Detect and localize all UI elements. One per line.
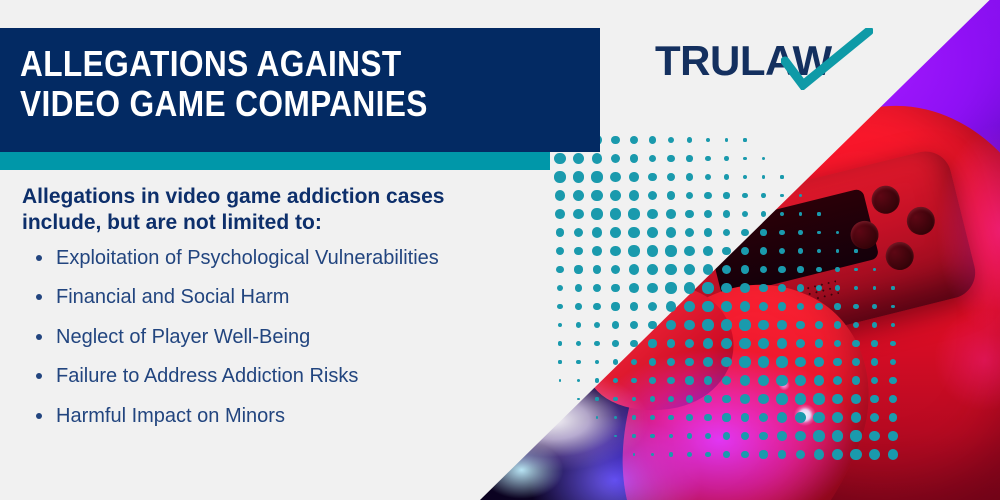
copy-subtitle: Allegations in video game addiction case… — [22, 184, 492, 236]
list-item: Harmful Impact on Minors — [22, 402, 492, 441]
checkmark-icon — [781, 28, 873, 90]
page-title: Allegations Against Video Game Companies — [20, 44, 504, 125]
list-item: Failure to Address Addiction Risks — [22, 362, 492, 401]
allegations-list: Exploitation of Psychological Vulnerabil… — [22, 244, 492, 441]
list-item: Neglect of Player Well-Being — [22, 323, 492, 362]
list-item: Financial and Social Harm — [22, 283, 492, 322]
trulaw-logo[interactable]: TRULAW — [655, 30, 870, 98]
promotional-banner: Allegations Against Video Game Companies… — [0, 0, 1000, 500]
list-item: Exploitation of Psychological Vulnerabil… — [22, 244, 492, 283]
title-block: Allegations Against Video Game Companies — [0, 28, 600, 152]
accent-bar — [0, 152, 550, 170]
copy-block: Allegations in video game addiction case… — [22, 184, 492, 441]
